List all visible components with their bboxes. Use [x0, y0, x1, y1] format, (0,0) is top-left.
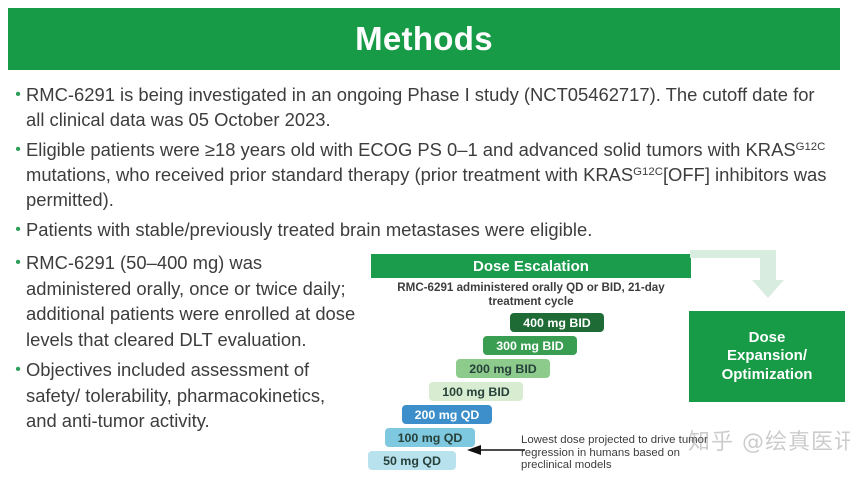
- dose-expansion-label: Dose Expansion/ Optimization: [722, 329, 813, 385]
- bullet-marker-icon: •: [10, 137, 26, 162]
- bullet-item: •Objectives included assessment of safet…: [10, 357, 360, 434]
- page-header-banner: Methods: [8, 8, 840, 70]
- bullet-marker-icon: •: [10, 357, 26, 382]
- dose-level-box: 200 mg QD: [402, 405, 492, 424]
- bullet-marker-icon: •: [10, 250, 26, 275]
- bullet-item: •Patients with stable/previously treated…: [10, 217, 838, 242]
- dose-escalation-title: Dose Escalation: [473, 258, 589, 275]
- dose-level-box: 100 mg QD: [385, 428, 475, 447]
- bullet-text: RMC-6291 is being investigated in an ong…: [26, 82, 838, 132]
- bullet-text: Objectives included assessment of safety…: [26, 357, 360, 434]
- bullet-item: •RMC-6291 (50–400 mg) was administered o…: [10, 250, 360, 352]
- dose-level-box: 300 mg BID: [483, 336, 577, 355]
- bullet-marker-icon: •: [10, 217, 26, 242]
- dose-escalation-header-bar: Dose Escalation: [371, 254, 691, 278]
- superscript-mutation-label: G12C: [796, 141, 826, 153]
- lowest-dose-annotation: Lowest dose projected to drive tumor reg…: [521, 434, 731, 472]
- methods-bullet-list-bottom: •RMC-6291 (50–400 mg) was administered o…: [10, 250, 360, 439]
- dose-level-box: 50 mg QD: [368, 451, 456, 470]
- page-title: Methods: [355, 20, 493, 58]
- dose-level-box: 400 mg BID: [510, 313, 604, 332]
- bullet-item: •RMC-6291 is being investigated in an on…: [10, 82, 838, 132]
- bullet-item: •Eligible patients were ≥18 years old wi…: [10, 137, 838, 212]
- dose-expansion-box: Dose Expansion/ Optimization: [689, 311, 845, 402]
- dose-level-box: 200 mg BID: [456, 359, 550, 378]
- dose-escalation-subtitle: RMC-6291 administered orally QD or BID, …: [371, 281, 691, 308]
- bullet-text: Eligible patients were ≥18 years old wit…: [26, 137, 838, 212]
- bullet-text: RMC-6291 (50–400 mg) was administered or…: [26, 250, 360, 352]
- bullet-text: Patients with stable/previously treated …: [26, 217, 838, 242]
- annotation-arrow-icon: [467, 443, 525, 457]
- superscript-mutation-label: G12C: [633, 166, 663, 178]
- methods-bullet-list-top: •RMC-6291 is being investigated in an on…: [10, 82, 838, 247]
- dose-level-box: 100 mg BID: [429, 382, 523, 401]
- escalation-to-expansion-arrow-icon: [690, 250, 800, 320]
- bullet-marker-icon: •: [10, 82, 26, 107]
- dose-escalation-diagram: Dose Escalation RMC-6291 administered or…: [365, 248, 850, 484]
